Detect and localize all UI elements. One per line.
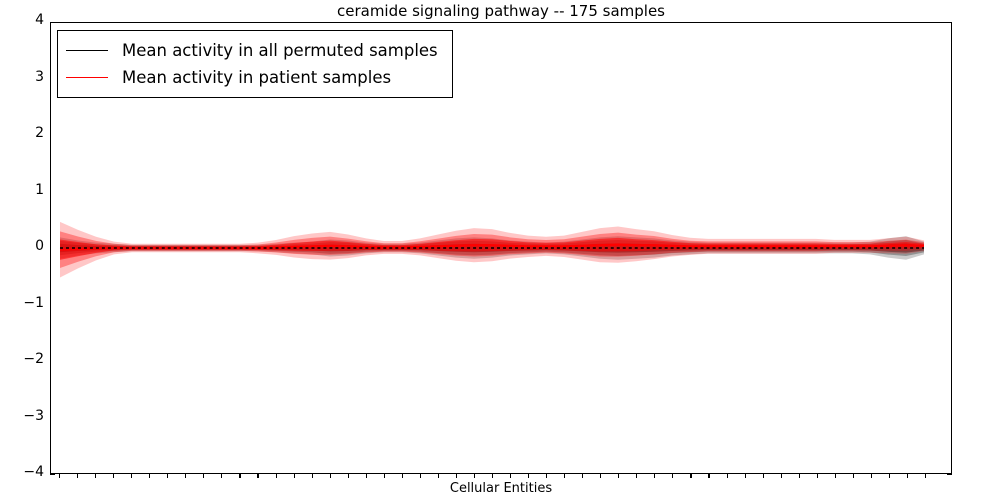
x-axis-tick-mark — [149, 474, 150, 478]
chart-root: ceramide signaling pathway -- 175 sample… — [0, 0, 1000, 500]
x-axis-tick-mark — [925, 474, 926, 478]
x-axis-tick-mark — [492, 474, 493, 478]
x-axis-tick-mark — [59, 474, 60, 478]
x-axis-tick-mark — [312, 474, 313, 478]
x-axis-tick-mark — [835, 474, 836, 478]
x-axis-tick-mark — [294, 474, 295, 478]
x-axis-tick-mark — [474, 474, 475, 478]
y-axis-tick-label: −2 — [0, 354, 44, 364]
x-axis-tick-mark — [276, 474, 277, 478]
x-axis-tick-mark — [564, 474, 565, 478]
x-axis-tick-mark — [167, 474, 168, 478]
legend-label: Mean activity in all permuted samples — [122, 41, 438, 60]
x-axis-tick-mark — [348, 474, 349, 478]
x-axis-tick-mark — [618, 474, 619, 478]
x-axis-tick-mark — [708, 474, 709, 478]
y-axis-tick-label: −1 — [0, 298, 44, 308]
y-axis-tick-mark — [947, 474, 952, 475]
x-axis-tick-mark — [781, 474, 782, 478]
x-axis-tick-mark — [131, 474, 132, 478]
x-axis-tick-mark — [871, 474, 872, 478]
x-axis-tick-mark — [817, 474, 818, 478]
x-axis-tick-mark — [528, 474, 529, 478]
x-axis-tick-mark — [727, 474, 728, 478]
y-axis-tick-label: 1 — [0, 185, 44, 195]
x-axis-tick-mark — [438, 474, 439, 478]
legend-color-swatch — [66, 77, 108, 78]
x-axis-tick-mark — [239, 474, 240, 478]
x-axis-tick-mark — [366, 474, 367, 478]
legend: Mean activity in all permuted samplesMea… — [57, 30, 453, 98]
y-axis-tick-label: −4 — [0, 467, 44, 477]
x-axis-tick-mark — [907, 474, 908, 478]
x-axis-tick-mark — [384, 474, 385, 478]
legend-label: Mean activity in patient samples — [122, 68, 391, 87]
x-axis-tick-mark — [546, 474, 547, 478]
x-axis-label: Cellular Entities — [50, 481, 952, 496]
x-axis-tick-mark — [402, 474, 403, 478]
x-axis-tick-mark — [185, 474, 186, 478]
x-axis-tick-mark — [636, 474, 637, 478]
x-axis-tick-mark — [221, 474, 222, 478]
x-axis-tick-mark — [95, 474, 96, 478]
x-axis-tick-mark — [654, 474, 655, 478]
x-axis-tick-mark — [745, 474, 746, 478]
y-axis-tick-label: 4 — [0, 15, 44, 25]
x-axis-tick-mark — [672, 474, 673, 478]
x-axis-tick-mark — [420, 474, 421, 478]
legend-item: Mean activity in all permuted samples — [66, 37, 438, 64]
x-axis-tick-mark — [889, 474, 890, 478]
legend-color-swatch — [66, 50, 108, 51]
x-axis-tick-mark — [257, 474, 258, 478]
x-axis-tick-mark — [763, 474, 764, 478]
x-axis-tick-mark — [853, 474, 854, 478]
x-axis-tick-mark — [510, 474, 511, 478]
x-axis-tick-mark — [600, 474, 601, 478]
x-axis-tick-mark — [799, 474, 800, 478]
y-axis-tick-label: −3 — [0, 411, 44, 421]
x-axis-tick-mark — [690, 474, 691, 478]
x-axis-tick-mark — [203, 474, 204, 478]
x-axis-tick-mark — [582, 474, 583, 478]
legend-item: Mean activity in patient samples — [66, 64, 438, 91]
y-axis-tick-label: 3 — [0, 72, 44, 82]
y-axis-tick-mark — [50, 474, 55, 475]
y-axis-tick-label: 0 — [0, 241, 44, 251]
x-axis-tick-mark — [77, 474, 78, 478]
x-axis-tick-mark — [456, 474, 457, 478]
chart-title: ceramide signaling pathway -- 175 sample… — [50, 2, 952, 20]
x-axis-tick-mark — [330, 474, 331, 478]
x-axis-tick-mark — [113, 474, 114, 478]
y-axis-tick-label: 2 — [0, 128, 44, 138]
